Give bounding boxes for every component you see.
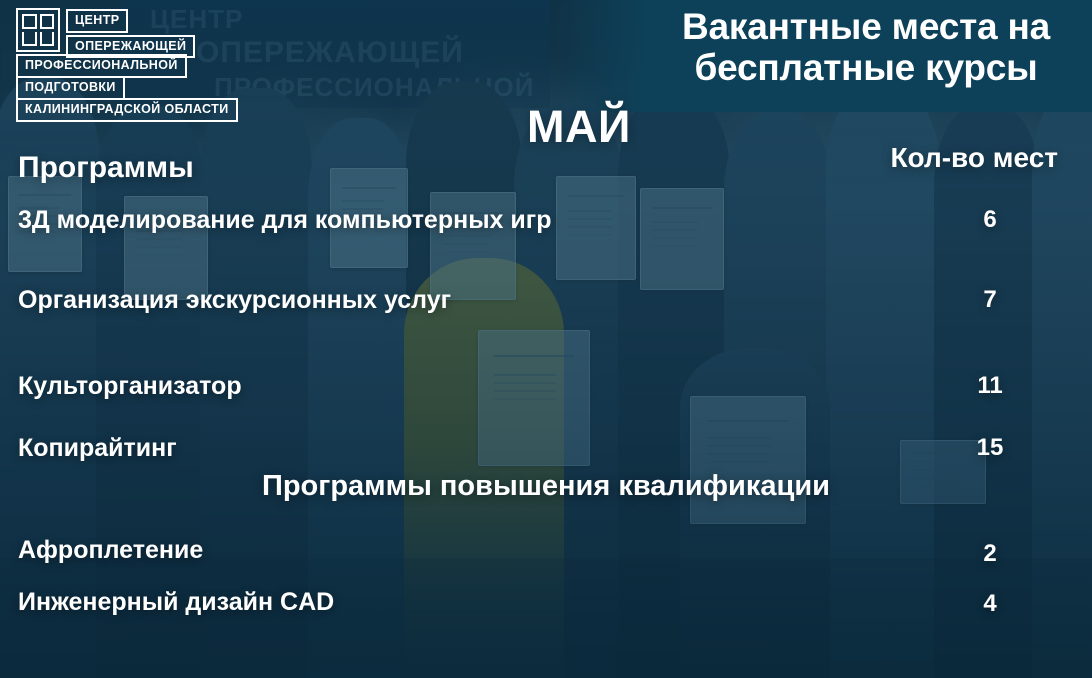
logo-wordmark-row-3: ПРОФЕССИОНАЛЬНОЙ: [16, 54, 187, 78]
program-name: Организация экскурсионных услуг: [18, 286, 451, 315]
column-header-quantity: Кол-во мест: [890, 142, 1058, 174]
program-quantity: 15: [930, 434, 1050, 462]
logo-glyph-p1: [22, 32, 37, 47]
program-quantity: 6: [930, 206, 1050, 234]
logo-wordmark-row-4: ПОДГОТОВКИ: [16, 76, 125, 100]
logo-line-1: ЦЕНТР: [66, 9, 128, 33]
program-name: Афроплетение: [18, 536, 203, 565]
program-quantity: 2: [930, 540, 1050, 568]
program-name: Культорганизатор: [18, 372, 242, 401]
logo-wordmark: ЦЕНТР ОПЕРЕЖАЮЩЕЙ: [66, 9, 195, 58]
logo-wordmark-row-5: КАЛИНИНГРАДСКОЙ ОБЛАСТИ: [16, 98, 238, 122]
poster-canvas: ЦЕНТР ОПЕРЕЖАЮЩЕЙ ПРОФЕССИОНАЛЬНОЙ: [0, 0, 1092, 678]
program-quantity: 4: [930, 590, 1050, 618]
logo-line-3: ПРОФЕССИОНАЛЬНОЙ: [16, 54, 187, 78]
program-name: 3Д моделирование для компьютерных игр: [18, 206, 551, 235]
program-name: Инженерный дизайн CAD: [18, 588, 334, 617]
poster-content: ЦЕНТР ОПЕРЕЖАЮЩЕЙ ПРОФЕССИОНАЛЬНОЙ ПОДГО…: [0, 0, 1092, 678]
table-row[interactable]: Культорганизатор 11: [18, 372, 1074, 401]
logo-line-4: ПОДГОТОВКИ: [16, 76, 125, 100]
logo-glyph-p2: [40, 32, 55, 47]
page-title: Вакантные места на бесплатные курсы: [656, 6, 1076, 89]
section-title: Программы повышения квалификации: [0, 470, 1092, 502]
table-row[interactable]: Копирайтинг 15: [18, 434, 1074, 463]
logo-glyph-o: [40, 14, 55, 29]
program-name: Копирайтинг: [18, 434, 177, 463]
copp-logo[interactable]: ЦЕНТР ОПЕРЕЖАЮЩЕЙ: [16, 8, 195, 58]
table-row[interactable]: Организация экскурсионных услуг 7: [18, 286, 1074, 315]
logo-line-5: КАЛИНИНГРАДСКОЙ ОБЛАСТИ: [16, 98, 238, 122]
program-quantity: 7: [930, 286, 1050, 314]
logo-glyph-ts: [22, 14, 37, 29]
column-header-programs: Программы: [18, 151, 194, 185]
table-row[interactable]: 3Д моделирование для компьютерных игр 6: [18, 206, 1074, 235]
program-quantity: 11: [930, 372, 1050, 400]
copp-logo-mark-icon: [16, 8, 60, 52]
table-row[interactable]: Инженерный дизайн CAD 4: [18, 588, 1074, 618]
table-row[interactable]: Афроплетение 2: [18, 536, 1074, 568]
month-label: МАЙ: [527, 101, 631, 153]
